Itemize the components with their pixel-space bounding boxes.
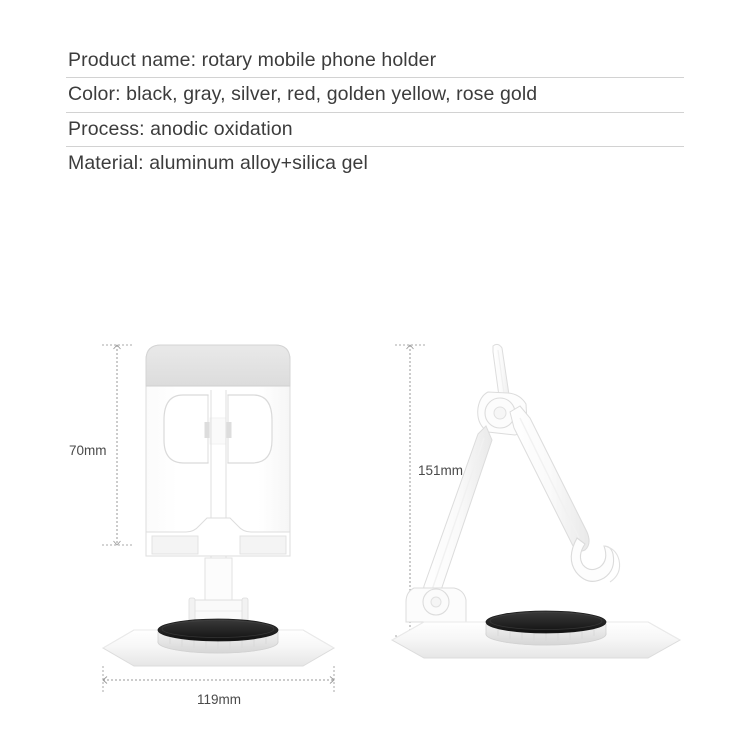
grip-wing-left (164, 395, 208, 463)
dimension-label-height-151mm: 151mm (418, 463, 463, 478)
product-spec-list: Product name: rotary mobile phone holder… (66, 44, 684, 181)
top-band (146, 345, 290, 386)
grip-wing-right (228, 395, 272, 463)
spec-row-material: Material: aluminum alloy+silica gel (66, 147, 684, 180)
pivot-screw (494, 407, 506, 419)
dimension-label-height-70mm: 70mm (69, 443, 107, 458)
product-dimension-diagram: 70mm 119mm (0, 300, 750, 750)
base-pivot-bracket (406, 588, 466, 622)
spec-row-color: Color: black, gray, silver, red, golden … (66, 78, 684, 112)
neck-column (189, 558, 248, 624)
phone-cradle-hook (571, 538, 619, 582)
base-pivot-screw (431, 597, 441, 607)
lip-pad-right (240, 536, 286, 554)
spec-text-color: Color: black, gray, silver, red, golden … (66, 78, 684, 111)
rotary-disc-assembly (486, 611, 606, 645)
spec-text-product-name: Product name: rotary mobile phone holder (66, 44, 684, 77)
dimension-label-width-119mm: 119mm (197, 692, 241, 707)
lip-pad-left (152, 536, 198, 554)
rear-leg (424, 426, 492, 599)
dimension-119mm (103, 666, 334, 692)
spec-row-process: Process: anodic oxidation (66, 113, 684, 147)
rotary-disc-assembly (158, 619, 278, 653)
spec-row-product-name: Product name: rotary mobile phone holder (66, 44, 684, 78)
side-view-illustration: 151mm (380, 300, 750, 750)
spec-text-material: Material: aluminum alloy+silica gel (66, 147, 684, 180)
front-support-arm (510, 406, 589, 551)
grip-pad-left (205, 422, 210, 438)
spec-text-process: Process: anodic oxidation (66, 113, 684, 146)
front-view-illustration: 70mm 119mm (60, 300, 390, 750)
grip-pad-right (227, 422, 232, 438)
